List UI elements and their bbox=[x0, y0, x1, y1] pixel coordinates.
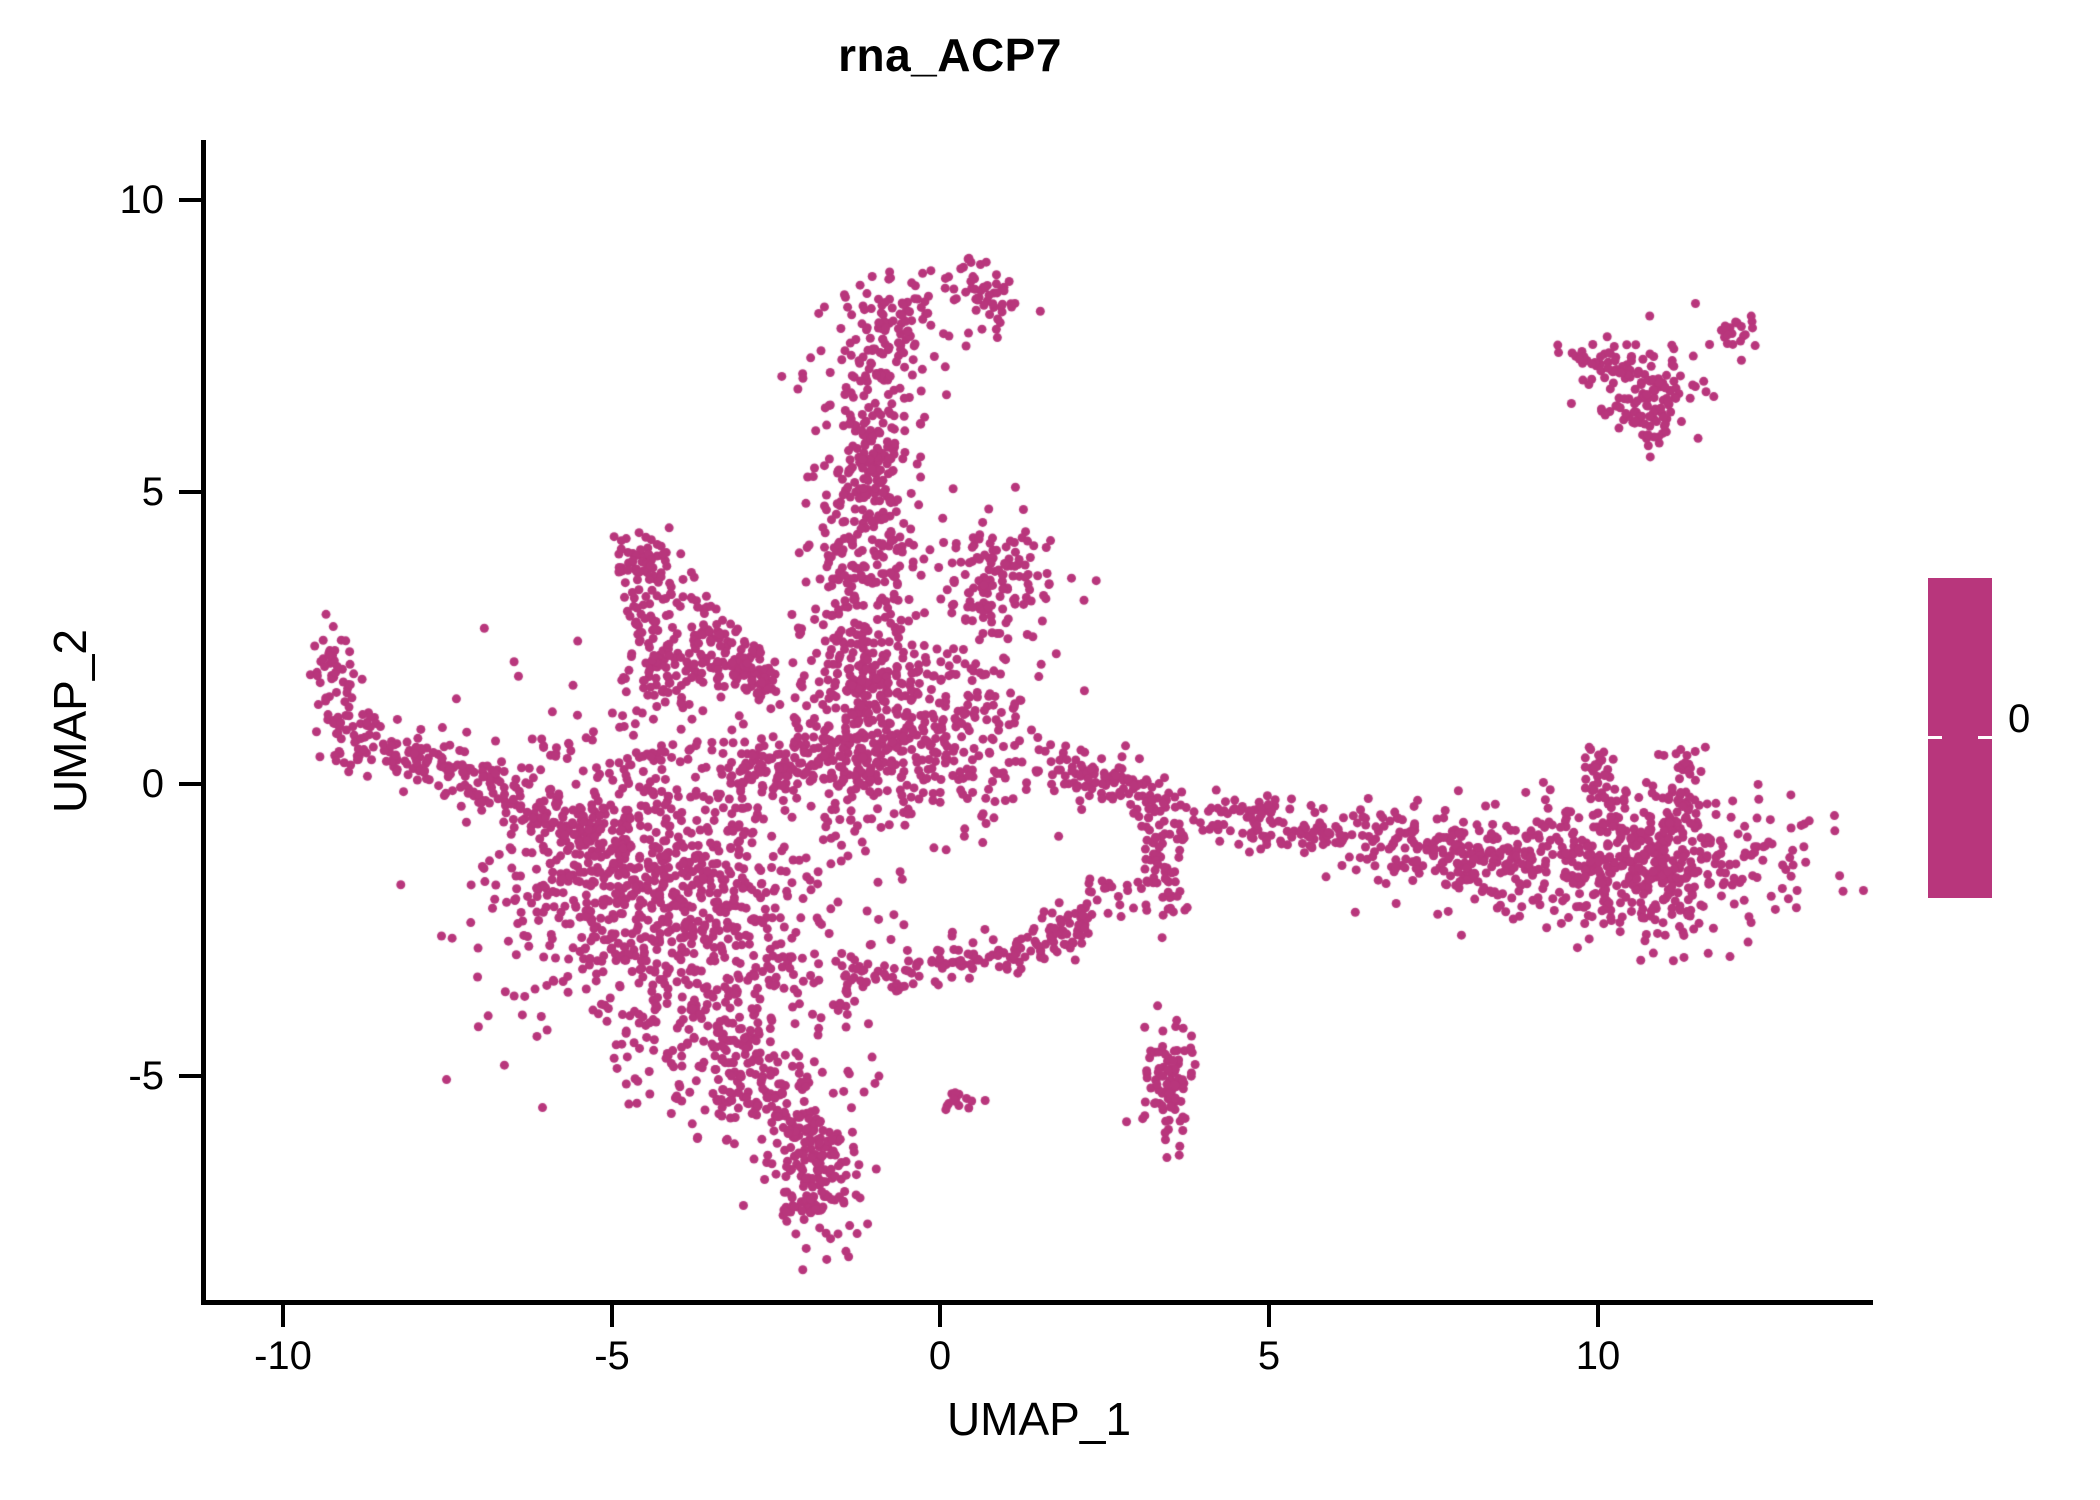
x-tick-mark bbox=[281, 1305, 285, 1327]
y-tick-mark bbox=[179, 198, 203, 202]
x-tick-mark bbox=[610, 1305, 614, 1327]
scatter-plot-canvas bbox=[205, 140, 1873, 1302]
y-tick-mark bbox=[179, 782, 203, 786]
x-axis-line bbox=[205, 1300, 1873, 1305]
colorbar-tick-label: 0 bbox=[2008, 699, 2030, 739]
x-tick-label-neg5: -5 bbox=[512, 1334, 712, 1379]
page-title: rna_ACP7 bbox=[0, 28, 1900, 82]
x-axis-label: UMAP_1 bbox=[205, 1392, 1873, 1446]
x-tick-mark bbox=[938, 1305, 942, 1327]
x-tick-label-0: 0 bbox=[840, 1334, 1040, 1379]
y-tick-label-10: 10 bbox=[120, 174, 165, 226]
y-axis-label: UMAP_2 bbox=[43, 451, 97, 991]
y-tick-label-neg5: -5 bbox=[128, 1050, 164, 1102]
umap-figure: rna_ACP7 -10 -5 0 5 10 10 5 0 -5 UMAP_1 … bbox=[0, 0, 2100, 1500]
plot-panel bbox=[205, 140, 1873, 1302]
x-tick-label-10: 10 bbox=[1498, 1334, 1698, 1379]
colorbar-tick-left bbox=[1928, 736, 1942, 739]
y-tick-label-5: 5 bbox=[142, 466, 164, 518]
y-tick-mark bbox=[179, 1074, 203, 1078]
x-tick-mark bbox=[1267, 1305, 1271, 1327]
x-tick-label-neg10: -10 bbox=[183, 1334, 383, 1379]
y-tick-label-0: 0 bbox=[142, 758, 164, 810]
x-tick-label-5: 5 bbox=[1169, 1334, 1369, 1379]
x-tick-mark bbox=[1596, 1305, 1600, 1327]
y-tick-mark bbox=[179, 490, 203, 494]
legend-colorbar[interactable] bbox=[1928, 578, 1992, 898]
y-axis-line bbox=[201, 140, 206, 1305]
colorbar-tick-right bbox=[1978, 736, 1992, 739]
